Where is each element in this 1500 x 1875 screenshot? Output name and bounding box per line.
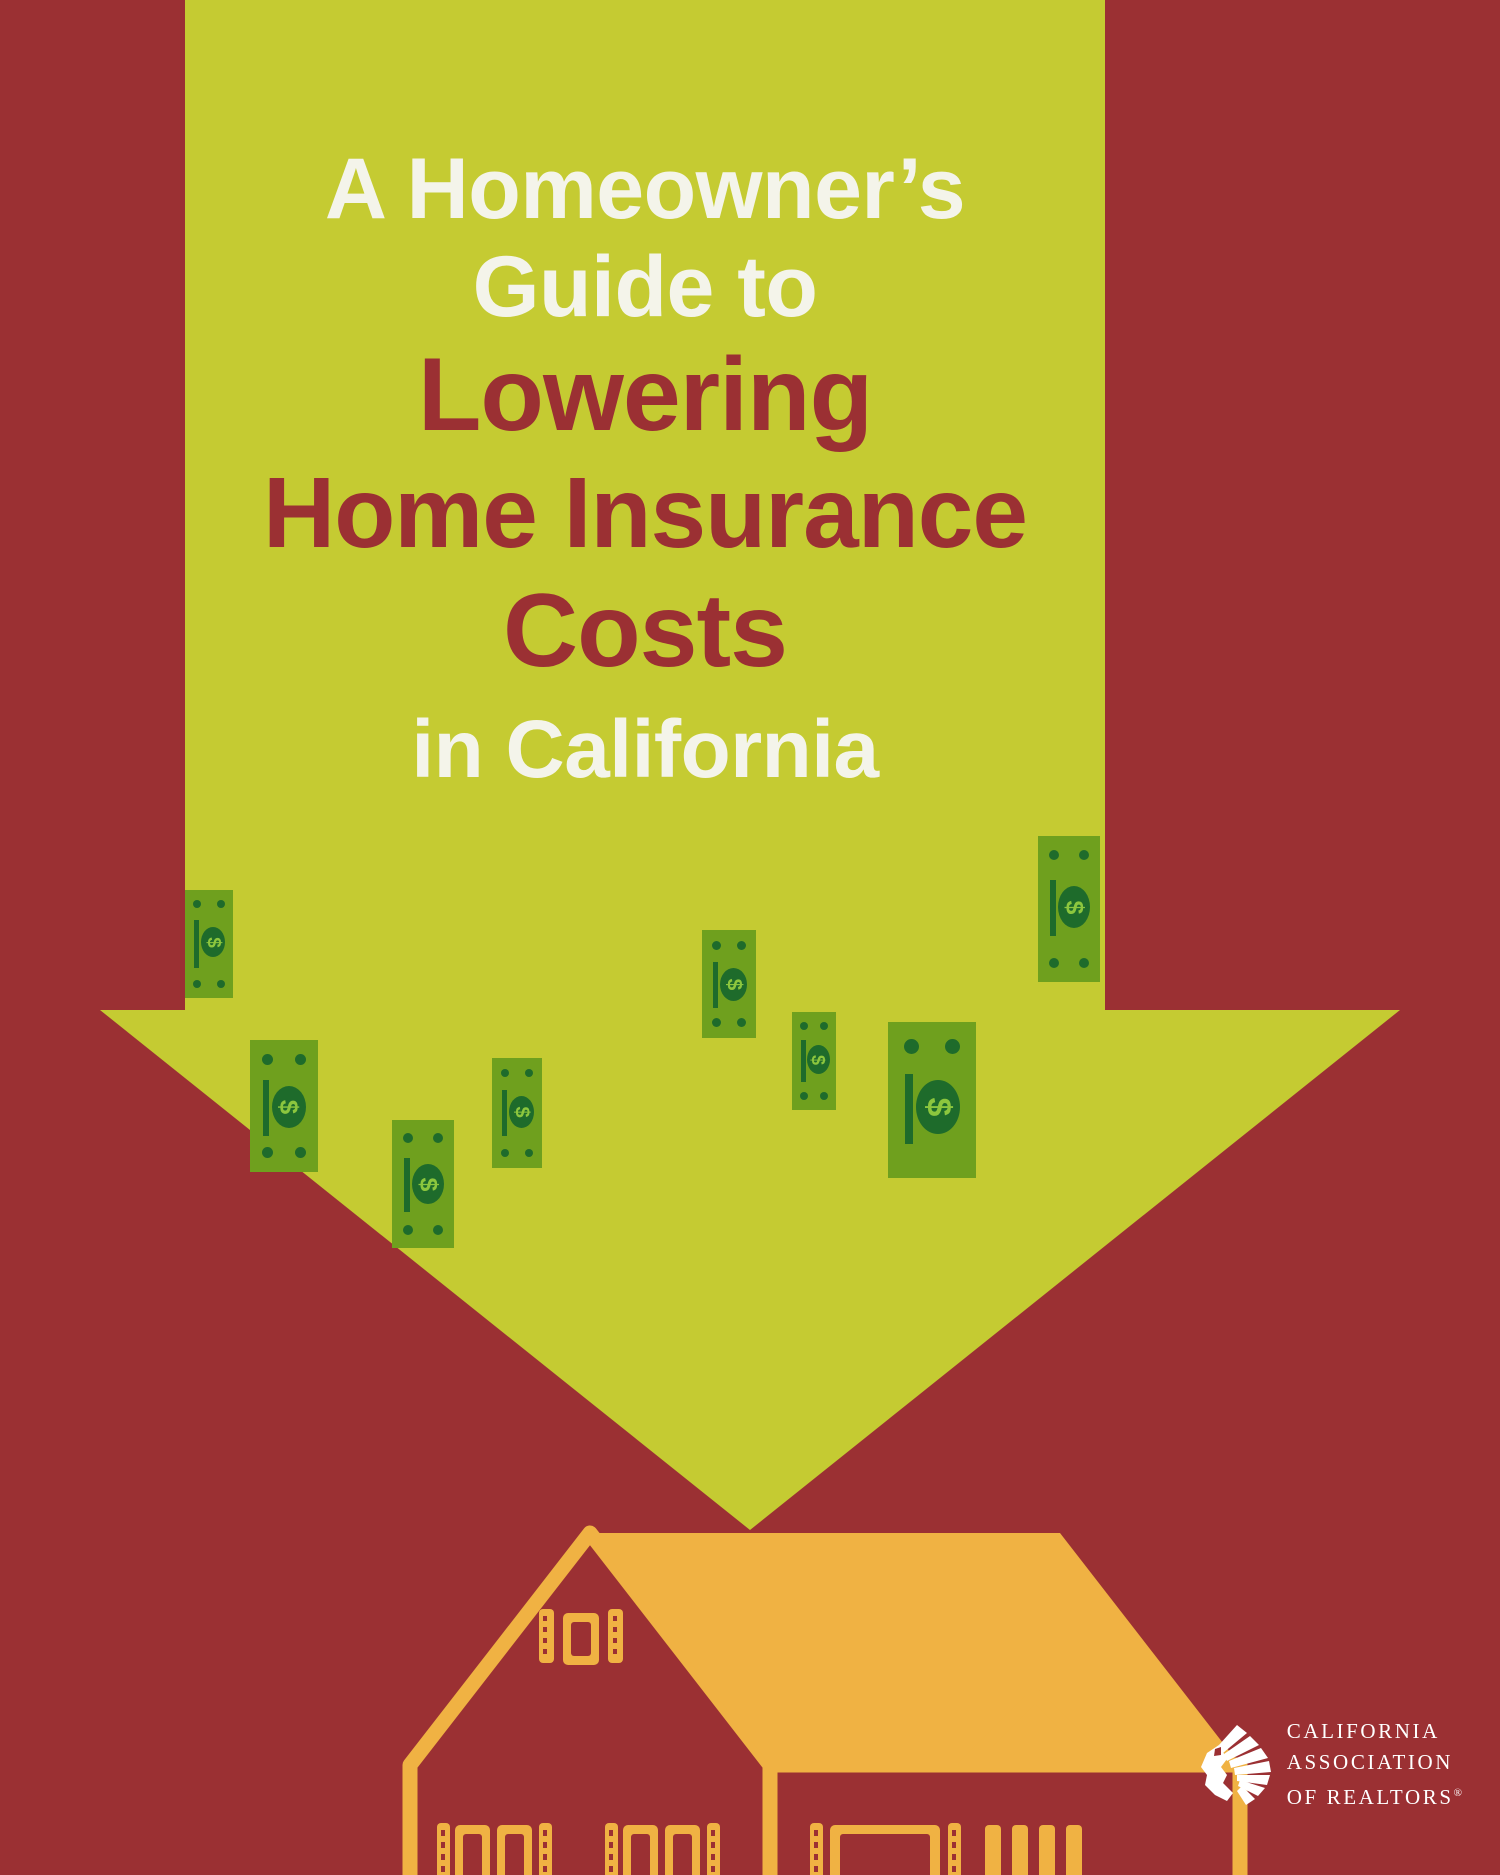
dollar-sign: $ xyxy=(416,1177,441,1191)
money-bill-3: $ xyxy=(392,1120,454,1248)
document-cover: $ $ $ xyxy=(0,0,1500,1875)
title-line-5: Costs xyxy=(185,572,1105,690)
dollar-sign: $ xyxy=(809,1054,827,1064)
dollar-sign: $ xyxy=(1062,900,1087,914)
money-bill-6: $ xyxy=(792,1012,836,1110)
money-bill-1: $ xyxy=(185,890,233,998)
car-logo: CALIFORNIA ASSOCIATION OF REALTORS® xyxy=(1197,1716,1462,1813)
dollar-sign: $ xyxy=(512,1106,532,1117)
logo-line-association: ASSOCIATION xyxy=(1287,1747,1462,1778)
logo-line-california: CALIFORNIA xyxy=(1287,1716,1462,1747)
title-line-2: Guide to xyxy=(185,238,1105,336)
cover-title-block: A Homeowner’s Guide to Lowering Home Ins… xyxy=(185,140,1105,798)
money-bill-8: $ xyxy=(1038,836,1100,982)
money-bill-7: $ xyxy=(888,1022,976,1178)
money-bill-5: $ xyxy=(702,930,756,1038)
title-line-6: in California xyxy=(185,702,1105,798)
logo-realtors-text: OF REALTORS xyxy=(1287,1785,1454,1809)
logo-line-of-realtors: OF REALTORS® xyxy=(1287,1778,1462,1813)
dollar-sign: $ xyxy=(921,1098,955,1117)
dollar-sign: $ xyxy=(276,1100,302,1114)
registered-trademark-icon: ® xyxy=(1454,1787,1462,1799)
car-logo-text: CALIFORNIA ASSOCIATION OF REALTORS® xyxy=(1287,1716,1462,1813)
dollar-sign: $ xyxy=(203,937,222,948)
california-bear-fan-logo xyxy=(1197,1723,1271,1807)
title-line-1: A Homeowner’s xyxy=(185,140,1105,238)
title-line-4: Home Insurance xyxy=(185,454,1105,572)
dollar-sign: $ xyxy=(723,979,744,991)
money-bill-4: $ xyxy=(492,1058,542,1168)
title-line-3: Lowering xyxy=(185,336,1105,454)
money-bill-2: $ xyxy=(250,1040,318,1172)
